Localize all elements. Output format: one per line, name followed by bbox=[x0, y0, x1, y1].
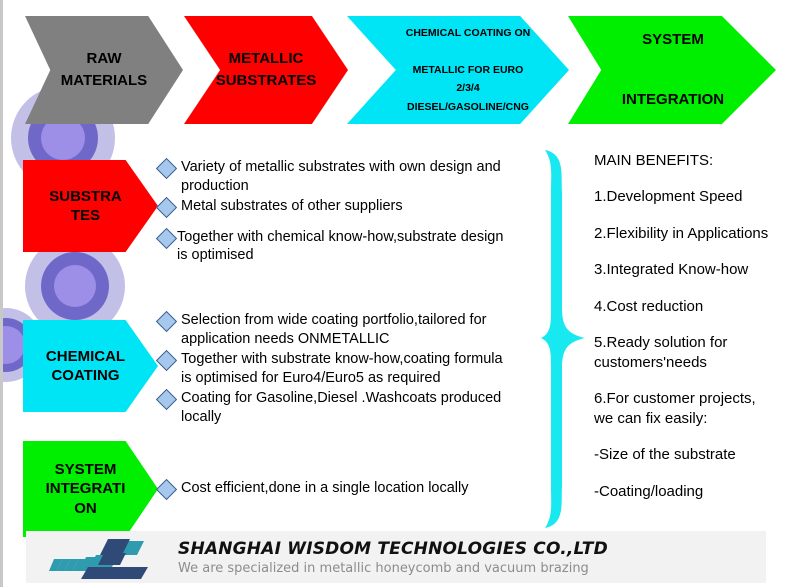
benefit-item-2: 2.Flexibility in Applications bbox=[594, 224, 784, 244]
stage-arrow-label: CHEMICAL COATING bbox=[46, 347, 125, 386]
bullet-text: Coating for Gasoline,Diesel .Washcoats p… bbox=[181, 389, 501, 426]
benefit-item-3: 3.Integrated Know-how bbox=[594, 260, 784, 280]
diamond-bullet-icon bbox=[156, 479, 177, 500]
bullet-text: Together with substrate know-how,coating… bbox=[181, 350, 503, 387]
benefit-item-1: 1.Development Speed bbox=[594, 187, 784, 207]
diamond-bullet-icon bbox=[156, 228, 177, 249]
bullet-text: Metal substrates of other suppliers bbox=[181, 197, 403, 216]
flow-stage-label: CHEMICAL COATING ON METALLIC FOR EURO 2/… bbox=[382, 24, 534, 116]
diamond-bullet-icon bbox=[156, 389, 177, 410]
company-name: SHANGHAI WISDOM TECHNOLOGIES CO.,LTD bbox=[178, 539, 608, 559]
bullet-item: Together with substrate know-how,coating… bbox=[159, 350, 544, 387]
benefit-item-6: 6.For customer projects, we can fix easi… bbox=[594, 389, 784, 428]
benefit-item-4: 4.Cost reduction bbox=[594, 297, 784, 317]
cyan-curly-brace-icon bbox=[539, 148, 591, 530]
bullet-group-chemical-coating: Selection from wide coating portfolio,ta… bbox=[159, 311, 544, 428]
flow-stage-chemical-coating[interactable]: CHEMICAL COATING ON METALLIC FOR EURO 2/… bbox=[347, 16, 569, 124]
flow-stage-raw-materials[interactable]: RAW MATERIALS bbox=[25, 16, 183, 124]
bullet-group-substrates: Variety of metallic substrates with own … bbox=[159, 158, 539, 267]
stage-arrow-label: SUBSTRA TES bbox=[49, 187, 122, 226]
flow-stage-metallic-substrates[interactable]: METALLIC SUBSTRATES bbox=[184, 16, 348, 124]
deco-circle-mid bbox=[41, 252, 109, 320]
company-tagline: We are specialized in metallic honeycomb… bbox=[178, 561, 608, 576]
footer-bar: SHANGHAI WISDOM TECHNOLOGIES CO.,LTD We … bbox=[26, 531, 766, 583]
deco-circle-inner bbox=[0, 326, 25, 364]
main-benefits-column: MAIN BENEFITS: 1.Development Speed 2.Fle… bbox=[594, 152, 784, 518]
bullet-item: Coating for Gasoline,Diesel .Washcoats p… bbox=[159, 389, 544, 426]
bullet-item: Variety of metallic substrates with own … bbox=[159, 158, 539, 195]
deco-circle-inner bbox=[54, 265, 96, 307]
bullet-group-system-integration: Cost efficient,done in a single location… bbox=[159, 479, 544, 500]
benefits-heading: MAIN BENEFITS: bbox=[594, 152, 784, 169]
benefit-item-7: -Size of the substrate bbox=[594, 445, 784, 465]
bullet-item: Together with chemical know-how,substrat… bbox=[159, 228, 539, 265]
bullet-text: Cost efficient,done in a single location… bbox=[181, 479, 469, 498]
flow-stage-label: RAW MATERIALS bbox=[57, 48, 151, 92]
stage-arrow-chemical-coating[interactable]: CHEMICAL COATING bbox=[23, 320, 158, 412]
diamond-bullet-icon bbox=[156, 197, 177, 218]
benefit-item-5: 5.Ready solution for customers'needs bbox=[594, 333, 784, 372]
stage-arrow-system-integration[interactable]: SYSTEM INTEGRATI ON bbox=[23, 441, 158, 537]
bullet-item: Selection from wide coating portfolio,ta… bbox=[159, 311, 544, 348]
diamond-bullet-icon bbox=[156, 350, 177, 371]
diamond-bullet-icon bbox=[156, 158, 177, 179]
bullet-text: Selection from wide coating portfolio,ta… bbox=[181, 311, 486, 348]
slide-canvas: RAW MATERIALS METALLIC SUBSTRATES CHEMIC… bbox=[0, 0, 786, 587]
flow-stage-system-integration[interactable]: SYSTEM INTEGRATION bbox=[568, 16, 776, 124]
footer-text-block: SHANGHAI WISDOM TECHNOLOGIES CO.,LTD We … bbox=[178, 539, 608, 576]
stage-arrow-substrates[interactable]: SUBSTRA TES bbox=[23, 160, 158, 252]
wisdom-technologies-logo-icon bbox=[48, 533, 168, 581]
benefit-item-8: -Coating/loading bbox=[594, 482, 784, 502]
diamond-bullet-icon bbox=[156, 311, 177, 332]
flow-stage-label: METALLIC SUBSTRATES bbox=[212, 48, 321, 92]
bullet-text: Variety of metallic substrates with own … bbox=[181, 158, 501, 195]
bullet-item: Cost efficient,done in a single location… bbox=[159, 479, 544, 498]
flow-stage-label: SYSTEM INTEGRATION bbox=[616, 25, 728, 115]
stage-arrow-label: SYSTEM INTEGRATI ON bbox=[46, 460, 126, 519]
bullet-text: Together with chemical know-how,substrat… bbox=[177, 228, 503, 265]
bullet-item: Metal substrates of other suppliers bbox=[159, 197, 539, 216]
